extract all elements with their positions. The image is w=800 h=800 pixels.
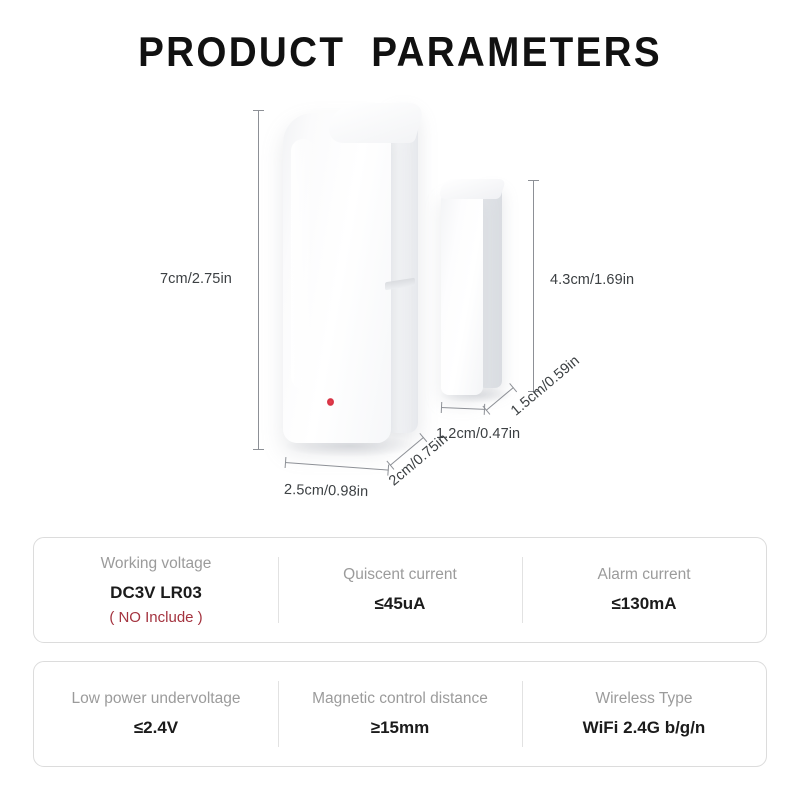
- dimension-label-sensor-height: 7cm/2.75in: [160, 271, 232, 287]
- spec-value: ≤130mA: [611, 594, 676, 614]
- magnet-top-face: [438, 179, 506, 199]
- spec-column-alarm-current: Alarm current ≤130mA: [522, 538, 766, 642]
- spec-card-1: Working voltage DC3V LR03 ( NO Include )…: [33, 537, 767, 643]
- product-diagram: 7cm/2.75in 2.5cm/0.98in 2cm/0.75in 4.3cm…: [0, 95, 800, 520]
- spec-column-working-voltage: Working voltage DC3V LR03 ( NO Include ): [34, 538, 278, 642]
- spec-value: DC3V LR03: [110, 583, 202, 603]
- dimension-label-sensor-width: 2.5cm/0.98in: [284, 482, 369, 500]
- magnet-front-face: [441, 190, 483, 395]
- dimension-label-magnet-depth: 1.5cm/0.59in: [508, 353, 583, 419]
- spec-label: Magnetic control distance: [312, 690, 488, 708]
- spec-column-quiscent-current: Quiscent current ≤45uA: [278, 538, 522, 642]
- page-title: PRODUCT PARAMETERS: [32, 28, 768, 76]
- spec-label: Alarm current: [597, 566, 690, 584]
- spec-column-wireless-type: Wireless Type WiFi 2.4G b/g/n: [522, 662, 766, 766]
- dimension-label-magnet-height: 4.3cm/1.69in: [550, 272, 634, 288]
- spec-card-2: Low power undervoltage ≤2.4V Magnetic co…: [33, 661, 767, 767]
- dimension-line-magnet-width: [441, 407, 485, 410]
- spec-label: Quiscent current: [343, 566, 457, 584]
- spec-label: Low power undervoltage: [72, 690, 241, 708]
- sensor-front-face: [283, 113, 391, 443]
- spec-value: ≤45uA: [375, 594, 426, 614]
- spec-column-low-power-undervoltage: Low power undervoltage ≤2.4V: [34, 662, 278, 766]
- spec-value: ≤2.4V: [134, 718, 178, 738]
- spec-note: ( NO Include ): [109, 609, 202, 626]
- spec-label: Wireless Type: [595, 690, 692, 708]
- sensor-top-face: [324, 103, 425, 143]
- dimension-line-sensor-height: [258, 110, 259, 450]
- led-indicator-icon: [327, 398, 334, 406]
- dimension-line-magnet-height: [533, 180, 534, 392]
- spec-label: Working voltage: [101, 555, 212, 573]
- dimension-line-sensor-width: [285, 462, 389, 471]
- dimension-label-magnet-width: 1.2cm/0.47in: [436, 426, 520, 442]
- spec-value: ≥15mm: [371, 718, 429, 738]
- spec-column-magnetic-control-distance: Magnetic control distance ≥15mm: [278, 662, 522, 766]
- spec-value: WiFi 2.4G b/g/n: [583, 718, 706, 738]
